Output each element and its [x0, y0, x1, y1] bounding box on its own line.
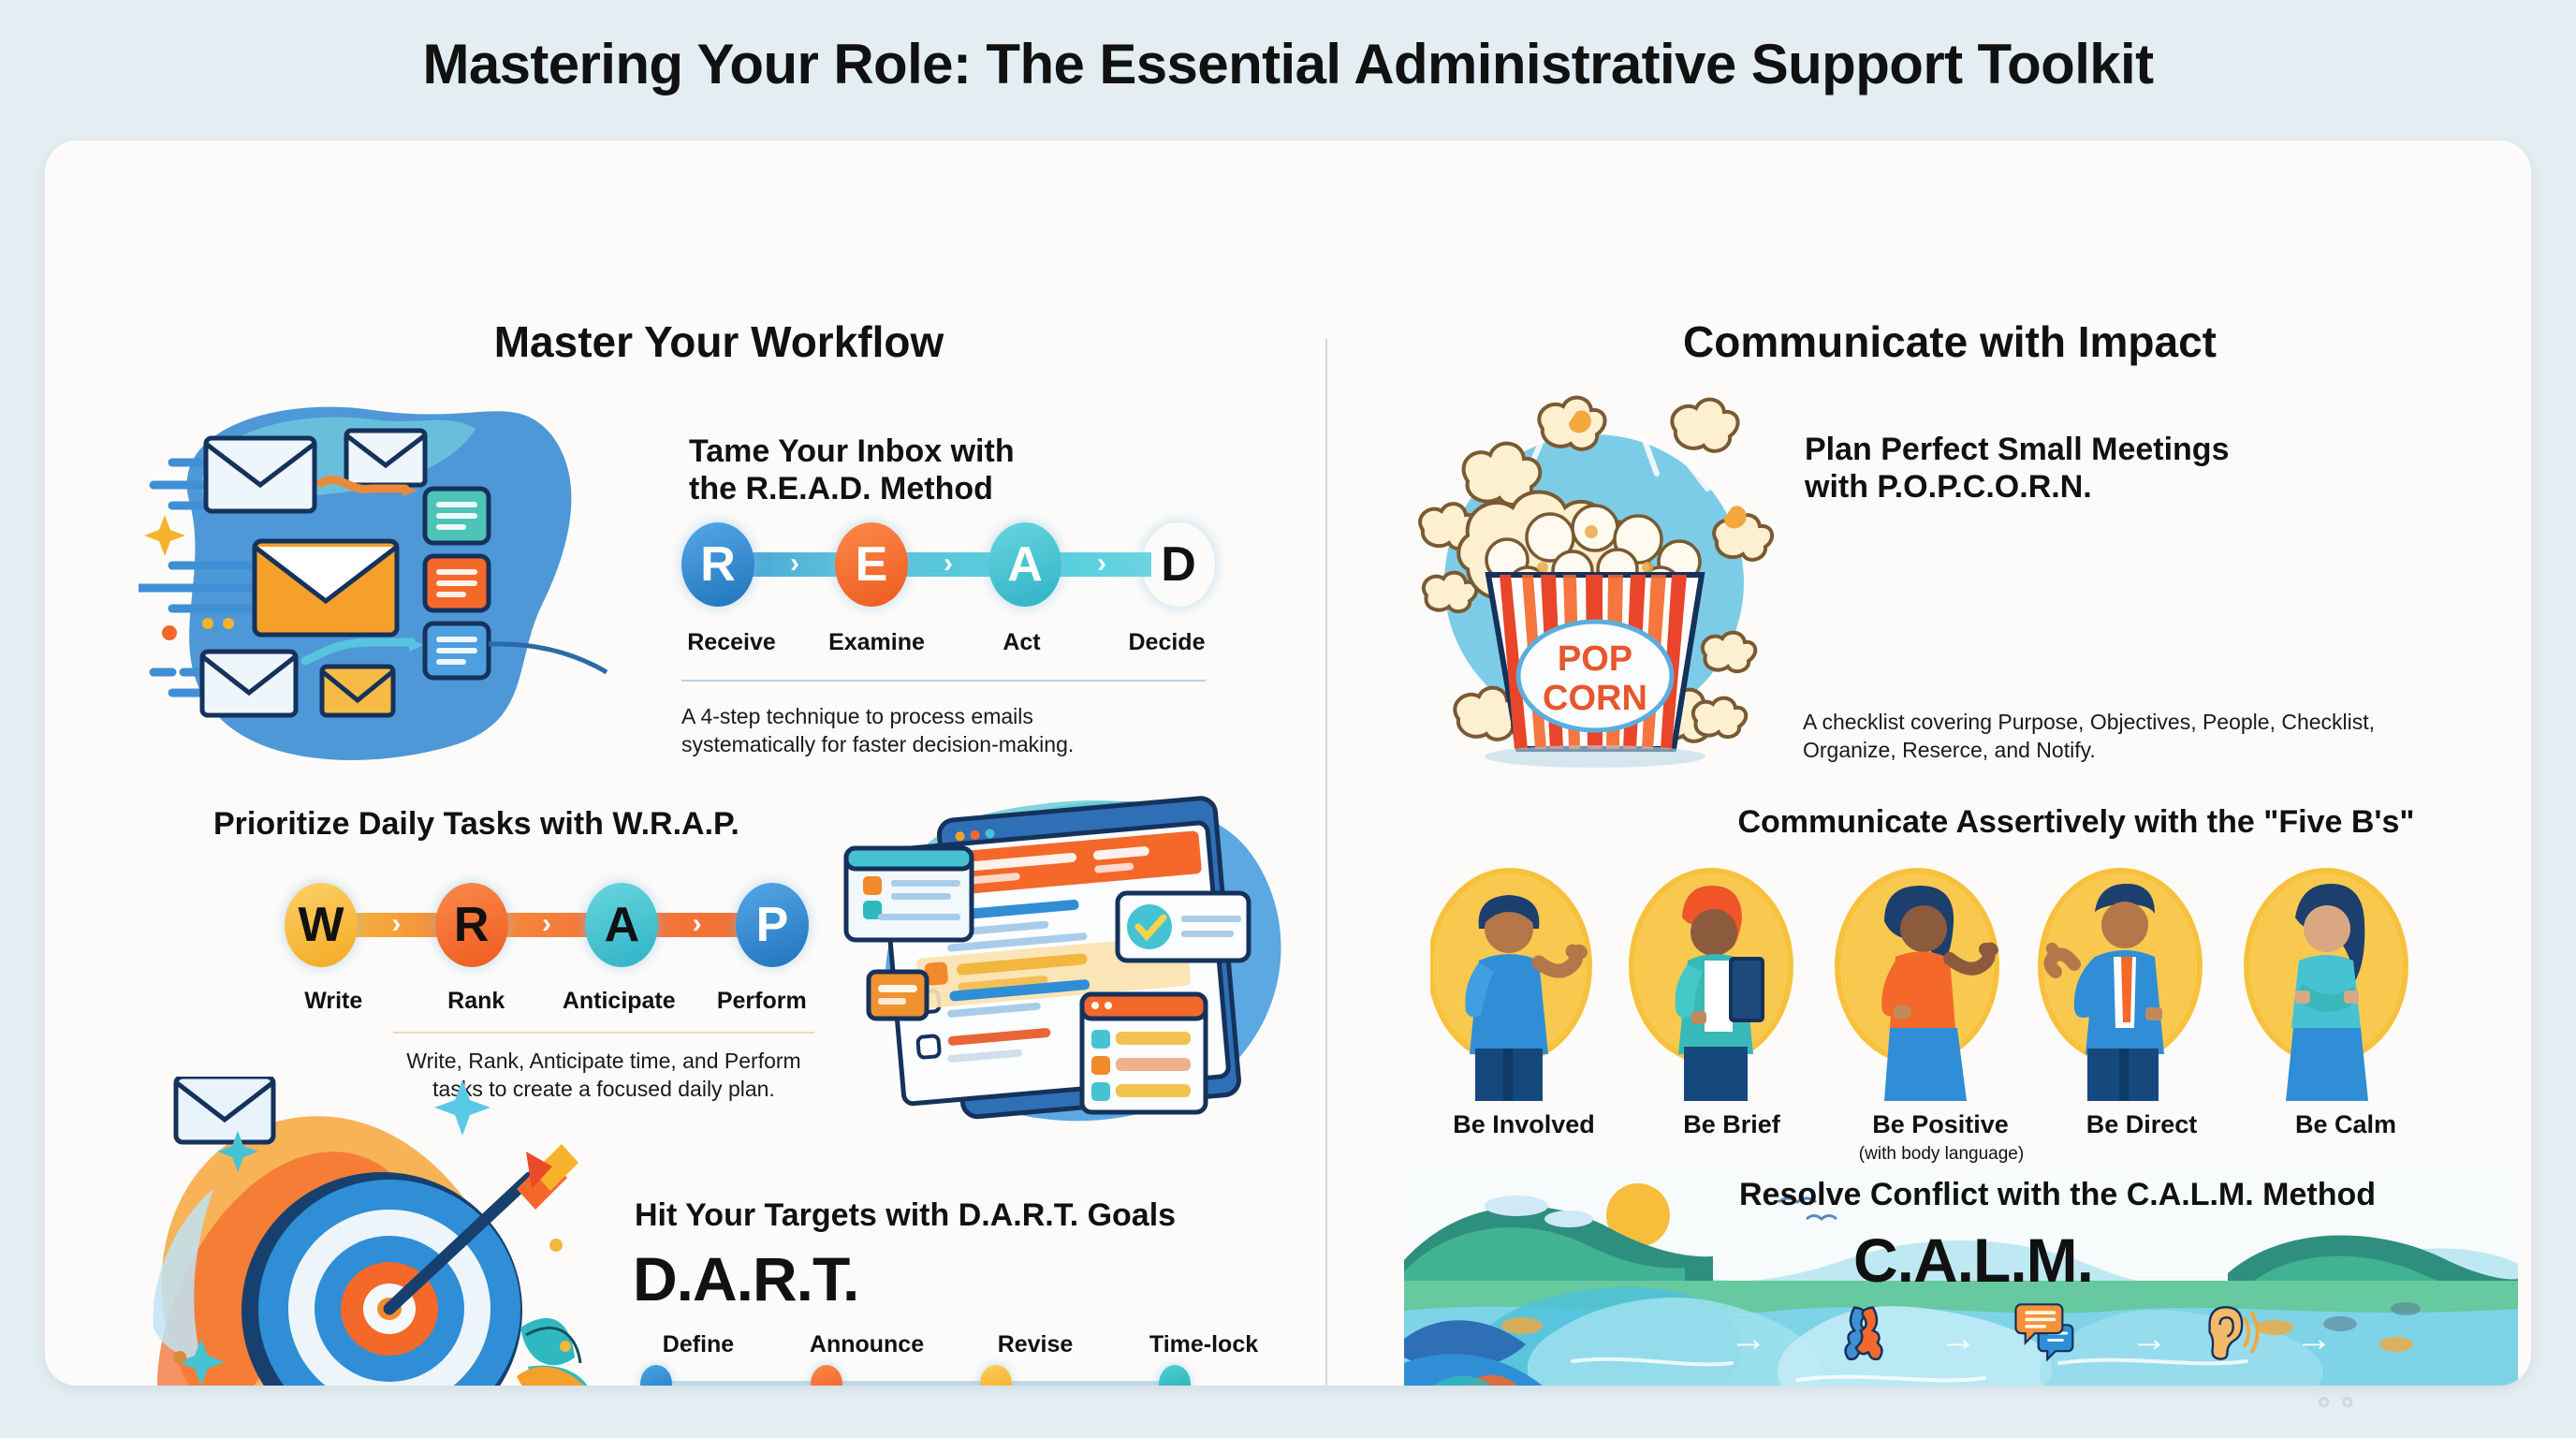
read-heading: Tame Your Inbox with the R.E.A.D. Method [689, 433, 1176, 507]
wrap-node-r[interactable]: R [435, 883, 508, 967]
read-chain: R E A D [681, 520, 1215, 609]
calm-arrow-0: → [1730, 1318, 1767, 1360]
calm-icon-listen [2198, 1301, 2260, 1363]
read-labels: Receive Examine Act Decide [659, 629, 1239, 656]
page-title: Mastering Your Role: The Essential Admin… [0, 32, 2576, 96]
infographic-card: Master Your Workflow Communicate with Im… [45, 140, 2531, 1386]
calm-arrow-1: → [1939, 1318, 1977, 1360]
dart-dot-announce[interactable] [811, 1365, 842, 1386]
calm-label-mend: Mend [2331, 1382, 2490, 1386]
read-label-receive: Receive [659, 629, 804, 656]
column-title-workflow: Master Your Workflow [391, 316, 1046, 367]
read-node-e[interactable]: E [835, 522, 908, 607]
read-label-decide: Decide [1094, 629, 1239, 656]
read-label-examine: Examine [804, 629, 949, 656]
dart-acronym: D.A.R.T. [633, 1243, 858, 1314]
calm-icon-conflict [1833, 1301, 1895, 1363]
wrap-labels: Write Rank Anticipate Perform [262, 988, 833, 1015]
email-illustration [139, 391, 625, 785]
target-illustration [148, 1077, 635, 1386]
dart-label-announce: Announce [783, 1331, 951, 1358]
dart-label-revise: Revise [951, 1331, 1120, 1358]
popcorn-label-line2: CORN [1543, 679, 1647, 718]
read-node-a[interactable]: A [988, 522, 1061, 607]
wrap-node-p[interactable]: P [736, 883, 809, 967]
fiveb-label-3: Be Direct [2057, 1110, 2226, 1139]
fiveb-heading: Communicate Assertively with the "Five B… [1580, 803, 2531, 841]
calm-icon-mend [2376, 1307, 2437, 1369]
read-description: A 4-step technique to process emails sys… [681, 702, 1093, 759]
column-title-communicate: Communicate with Impact [1561, 316, 2338, 367]
calm-icon-address [2014, 1298, 2076, 1359]
wrap-node-w[interactable]: W [285, 883, 358, 967]
fiveb-label-2: Be Positive [1851, 1110, 2029, 1139]
dart-label-timelock: Time-lock [1120, 1331, 1288, 1358]
wrap-node-a[interactable]: A [585, 883, 658, 967]
calm-label-address: Address [1981, 1382, 2138, 1386]
dart-heading: Hit Your Targets with D.A.R.T. Goals [635, 1196, 1290, 1234]
popcorn-label-line1: POP [1558, 639, 1632, 679]
dart-label-define: Define [614, 1331, 783, 1358]
dart-timeline [651, 1381, 1189, 1386]
fiveb-label-0: Be Involved [1440, 1110, 1608, 1139]
popcorn-description: A checklist covering Purpose, Objectives… [1803, 708, 2421, 765]
popcorn-illustration: POP CORN [1402, 384, 1786, 768]
calm-label-listen: Listen [2168, 1382, 2299, 1386]
popcorn-heading-line1: Plan Perfect Small Meetings [1805, 431, 2329, 468]
calm-arrow-3: → [2295, 1318, 2333, 1360]
popcorn-heading-line2: with P.O.P.C.O.R.N. [1805, 468, 2329, 506]
calm-arrow-2: → [2130, 1318, 2168, 1360]
read-heading-line1: Tame Your Inbox with [689, 433, 1176, 470]
dart-dot-define[interactable] [640, 1365, 672, 1386]
dart-dot-revise[interactable] [980, 1365, 1012, 1386]
wrap-label-rank: Rank [405, 988, 549, 1015]
dart-labels: Define Announce Revise Time-lock [614, 1331, 1288, 1358]
read-heading-line2: the R.E.A.D. Method [689, 470, 1176, 507]
calm-heading: Resolve Conflict with the C.A.L.M. Metho… [1702, 1176, 2413, 1213]
calm-label-conflict: Conflict [1797, 1382, 1938, 1386]
popcorn-heading: Plan Perfect Small Meetings with P.O.P.C… [1805, 431, 2329, 506]
task-list-illustration [812, 796, 1318, 1133]
wrap-heading: Prioritize Daily Tasks with W.R.A.P. [213, 805, 831, 843]
fiveb-row [1430, 863, 2507, 1107]
fiveb-sublabel-2: (with body language) [1831, 1144, 2052, 1165]
read-label-act: Act [949, 629, 1094, 656]
wrap-chain: W R A P [285, 880, 809, 970]
fiveb-label-4: Be Calm [2261, 1110, 2430, 1139]
dart-dot-timelock[interactable] [1159, 1365, 1191, 1386]
read-node-r[interactable]: R [681, 522, 754, 607]
wrap-rule [393, 1032, 814, 1034]
read-rule [681, 680, 1206, 682]
column-divider [1325, 339, 1327, 1386]
wrap-label-anticipate: Anticipate [548, 988, 691, 1015]
watermark: ⚬⚬ [2312, 1387, 2359, 1420]
fiveb-label-1: Be Brief [1647, 1110, 1816, 1139]
wrap-label-write: Write [262, 988, 405, 1015]
read-node-d[interactable]: D [1142, 522, 1215, 607]
calm-acronym: C.A.L.M. [1853, 1225, 2093, 1296]
